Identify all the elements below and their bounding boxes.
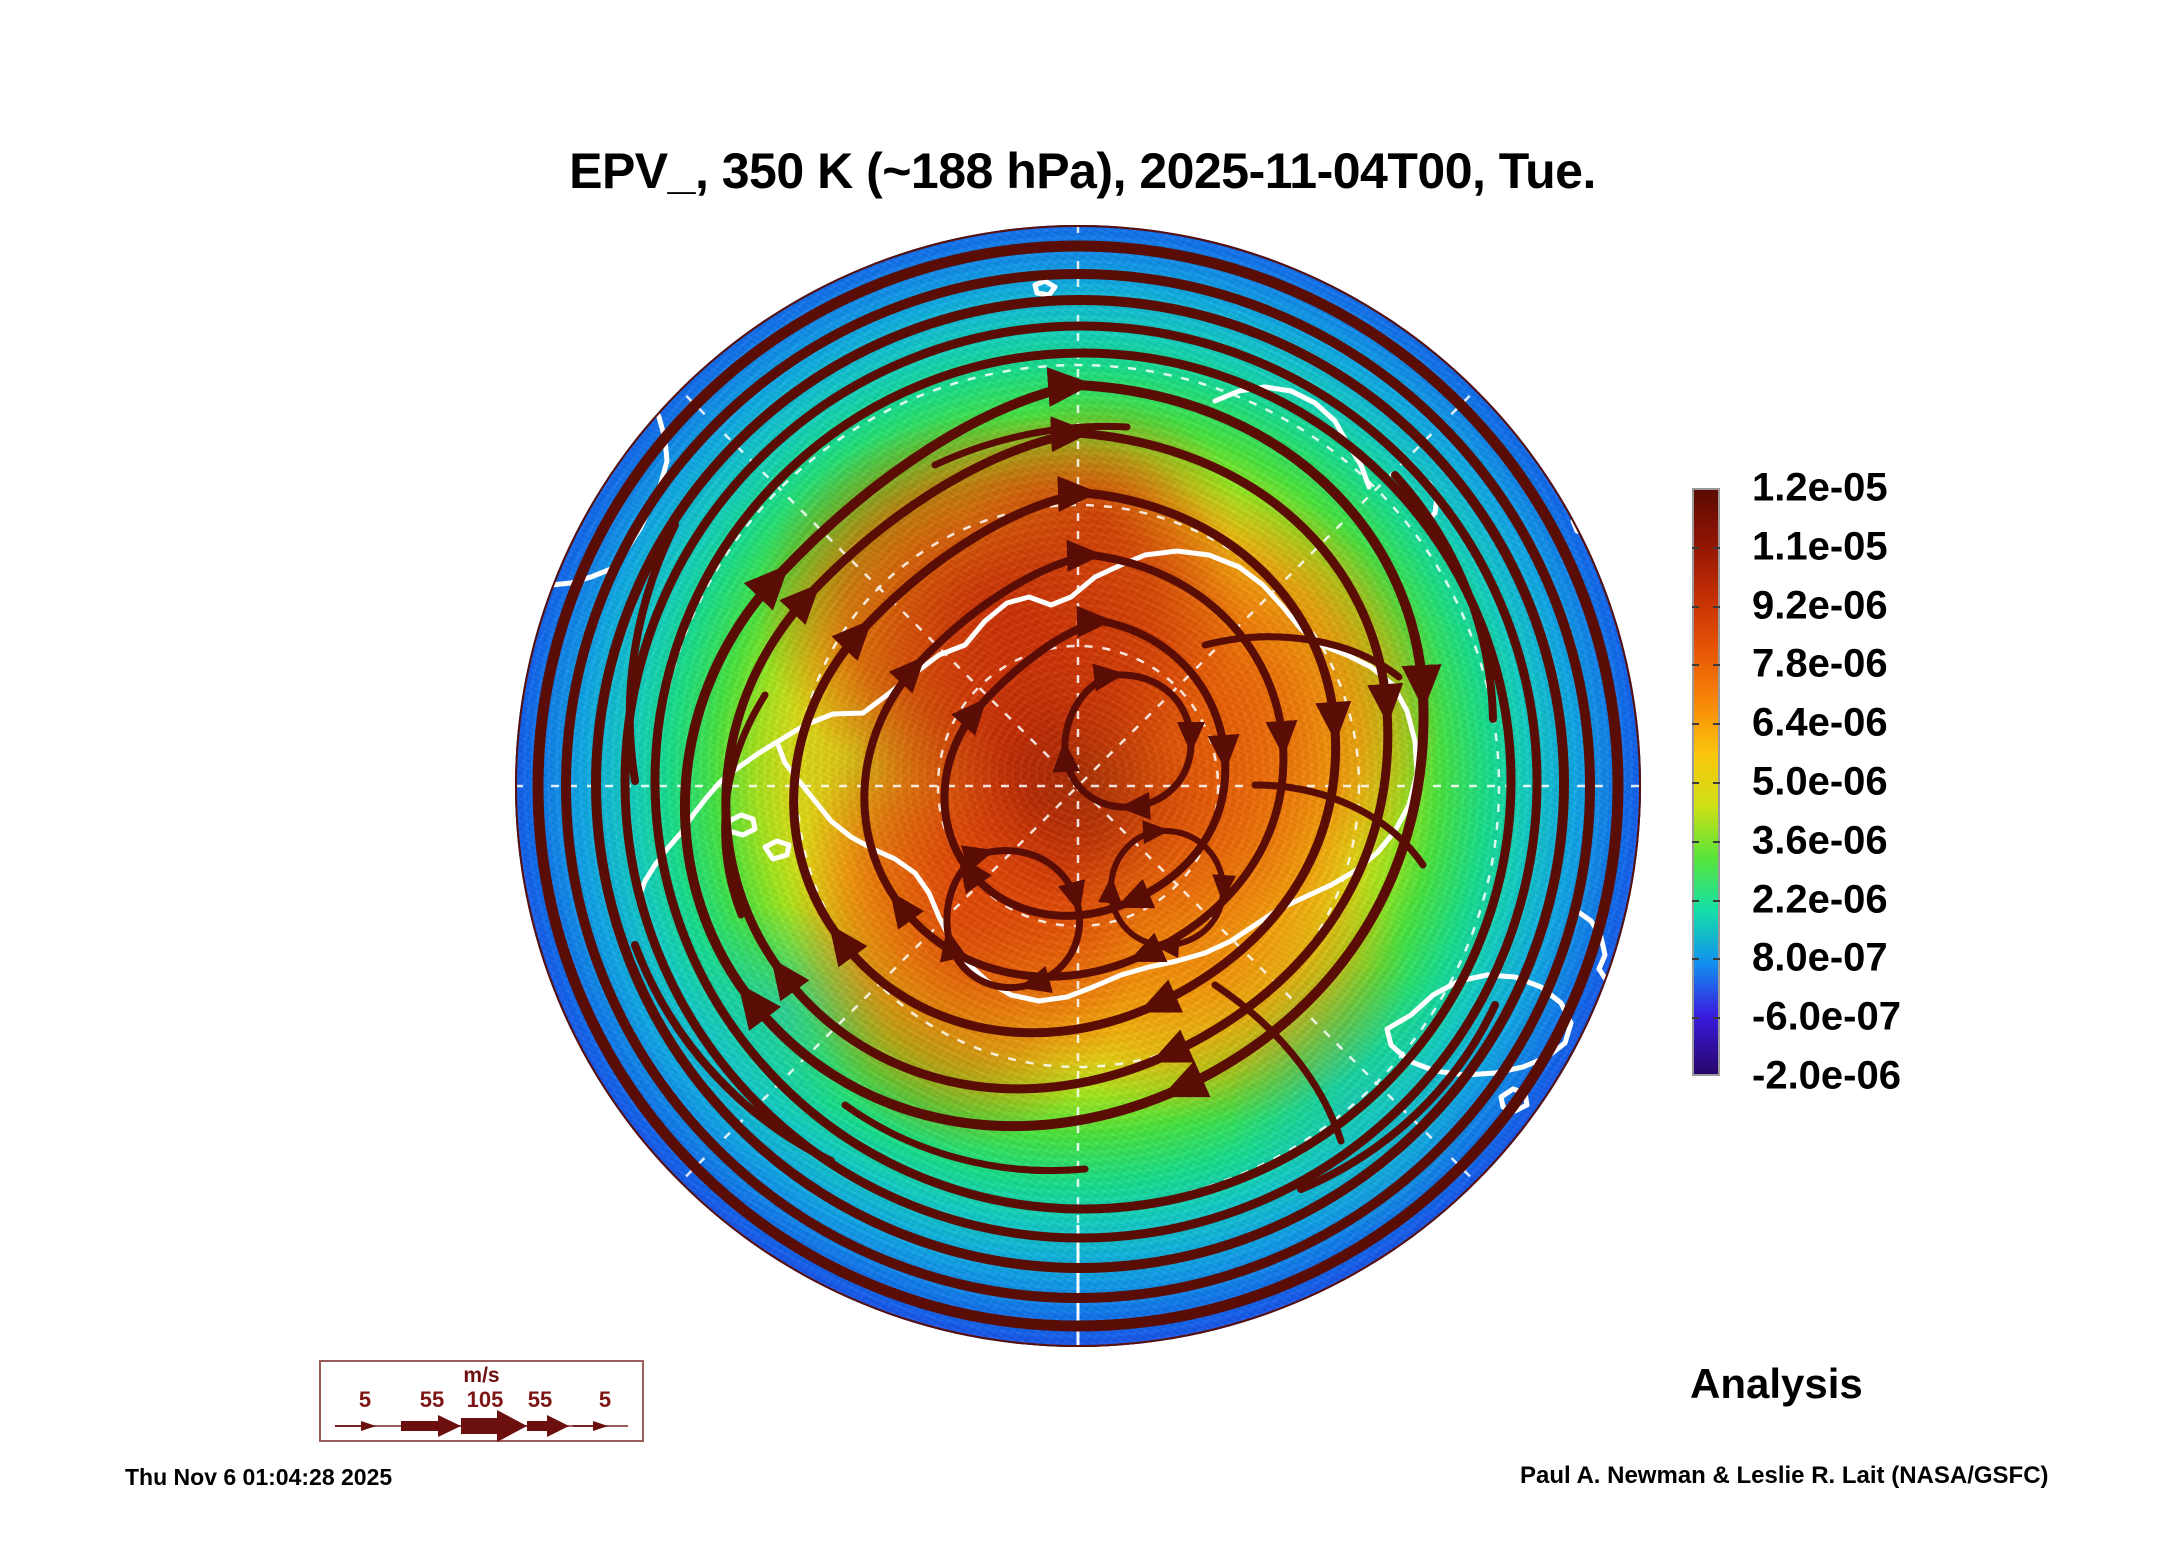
wind-legend-arrows — [321, 1410, 642, 1442]
colorbar-label: 9.2e-06 — [1752, 583, 1888, 628]
colorbar-tick — [1692, 723, 1699, 725]
colorbar-tick — [1713, 841, 1720, 843]
colorbar-tick — [1713, 606, 1720, 608]
colorbar-label: 1.2e-05 — [1752, 466, 1888, 511]
colorbar-tick — [1692, 1017, 1699, 1019]
colorbar-tick — [1692, 606, 1699, 608]
colorbar-tick — [1692, 841, 1699, 843]
wind-streamlines — [515, 225, 1641, 1347]
colorbar-tick — [1692, 547, 1699, 549]
colorbar — [1692, 488, 1720, 1076]
colorbar-label: -2.0e-06 — [1752, 1054, 1901, 1099]
colorbar-tick — [1692, 664, 1699, 666]
colorbar-tick — [1692, 900, 1699, 902]
colorbar-label: -6.0e-07 — [1752, 995, 1901, 1040]
colorbar-tick — [1713, 547, 1720, 549]
colorbar-tick — [1713, 782, 1720, 784]
colorbar-tick — [1713, 958, 1720, 960]
colorbar-label: 3.6e-06 — [1752, 818, 1888, 863]
colorbar-label: 8.0e-07 — [1752, 936, 1888, 981]
colorbar-tick — [1713, 664, 1720, 666]
colorbar-label: 2.2e-06 — [1752, 877, 1888, 922]
colorbar-label: 5.0e-06 — [1752, 760, 1888, 805]
wind-speed-legend: m/s 5 55 105 55 5 — [319, 1360, 644, 1442]
colorbar-label: 6.4e-06 — [1752, 701, 1888, 746]
colorbar-label: 7.8e-06 — [1752, 642, 1888, 687]
map-disc — [515, 225, 1641, 1347]
colorbar-tick — [1713, 1017, 1720, 1019]
colorbar-tick — [1692, 782, 1699, 784]
analysis-label: Analysis — [1690, 1360, 1863, 1408]
author-credit: Paul A. Newman & Leslie R. Lait (NASA/GS… — [1520, 1462, 2049, 1490]
page-title: EPV_, 350 K (~188 hPa), 2025-11-04T00, T… — [0, 142, 2165, 200]
colorbar-tick — [1692, 958, 1699, 960]
colorbar-tick — [1713, 723, 1720, 725]
generation-timestamp: Thu Nov 6 01:04:28 2025 — [125, 1464, 392, 1491]
colorbar-labels: 1.2e-05 1.1e-05 9.2e-06 7.8e-06 6.4e-06 … — [1752, 488, 2012, 1076]
polar-map — [515, 225, 1641, 1347]
colorbar-label: 1.1e-05 — [1752, 524, 1888, 569]
colorbar-tick — [1713, 900, 1720, 902]
wind-legend-unit: m/s — [321, 1364, 642, 1388]
